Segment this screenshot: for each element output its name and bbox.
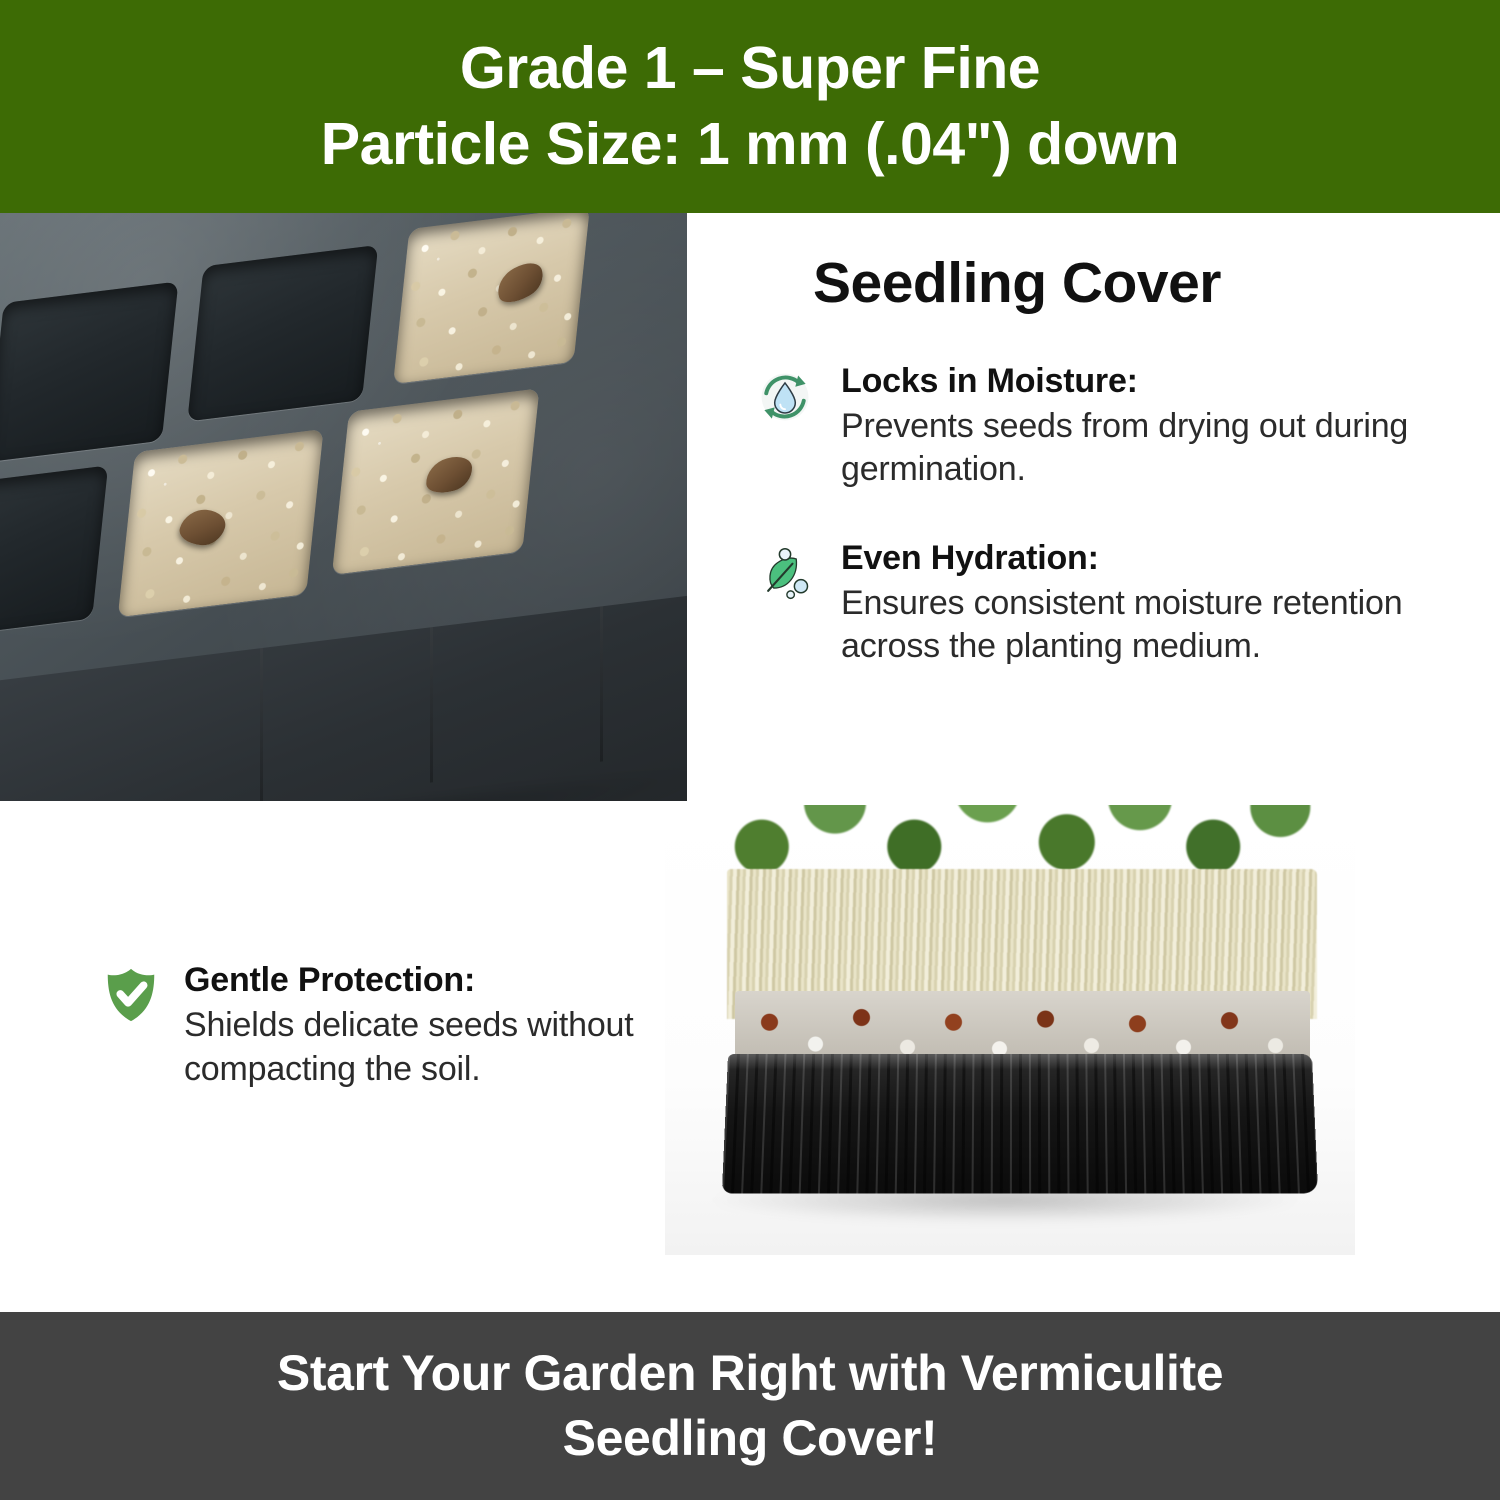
feature-text: Even Hydration: Ensures consistent moist… bbox=[841, 538, 1475, 669]
tray-cell-filled bbox=[393, 213, 590, 384]
vermiculite-texture bbox=[393, 213, 590, 384]
microgreens-photo bbox=[665, 805, 1355, 1255]
tray-cell-filled bbox=[332, 388, 540, 575]
header-line-1: Grade 1 – Super Fine bbox=[460, 31, 1040, 107]
footer-banner: Start Your Garden Right with Vermiculite… bbox=[0, 1312, 1500, 1500]
tray-cell-empty bbox=[0, 465, 108, 638]
feature-title: Gentle Protection: bbox=[184, 960, 645, 1000]
tray-cell-empty bbox=[0, 281, 178, 462]
feature-description: Prevents seeds from drying out during ge… bbox=[841, 405, 1475, 492]
header-line-2: Particle Size: 1 mm (.04") down bbox=[321, 107, 1179, 183]
feature-text: Locks in Moisture: Prevents seeds from d… bbox=[841, 361, 1475, 492]
feature-description: Shields delicate seeds without compactin… bbox=[184, 1004, 645, 1091]
feature-gentle-protection: Gentle Protection: Shields delicate seed… bbox=[100, 960, 645, 1091]
seed-tray-photo bbox=[0, 213, 687, 801]
water-recycle-icon bbox=[755, 367, 815, 427]
infographic-page: Grade 1 – Super Fine Particle Size: 1 mm… bbox=[0, 0, 1500, 1500]
black-ribbed-tray bbox=[722, 1054, 1318, 1193]
feature-description: Ensures consistent moisture retention ac… bbox=[841, 582, 1475, 669]
tray-cell-filled bbox=[118, 429, 324, 618]
right-feature-column: Seedling Cover Locks in Moisture: Preven… bbox=[755, 252, 1475, 669]
feature-even-hydration: Even Hydration: Ensures consistent moist… bbox=[755, 538, 1475, 669]
header-banner: Grade 1 – Super Fine Particle Size: 1 mm… bbox=[0, 0, 1500, 213]
section-title: Seedling Cover bbox=[813, 252, 1475, 315]
footer-line-1: Start Your Garden Right with Vermiculite bbox=[277, 1341, 1223, 1406]
leaf-droplets-icon bbox=[755, 544, 815, 604]
feature-title: Locks in Moisture: bbox=[841, 361, 1475, 401]
feature-text: Gentle Protection: Shields delicate seed… bbox=[184, 960, 645, 1091]
feature-locks-in-moisture: Locks in Moisture: Prevents seeds from d… bbox=[755, 361, 1475, 492]
tray-cell-empty bbox=[187, 245, 378, 422]
feature-title: Even Hydration: bbox=[841, 538, 1475, 578]
footer-line-2: Seedling Cover! bbox=[563, 1406, 938, 1471]
shield-check-icon bbox=[100, 964, 162, 1026]
